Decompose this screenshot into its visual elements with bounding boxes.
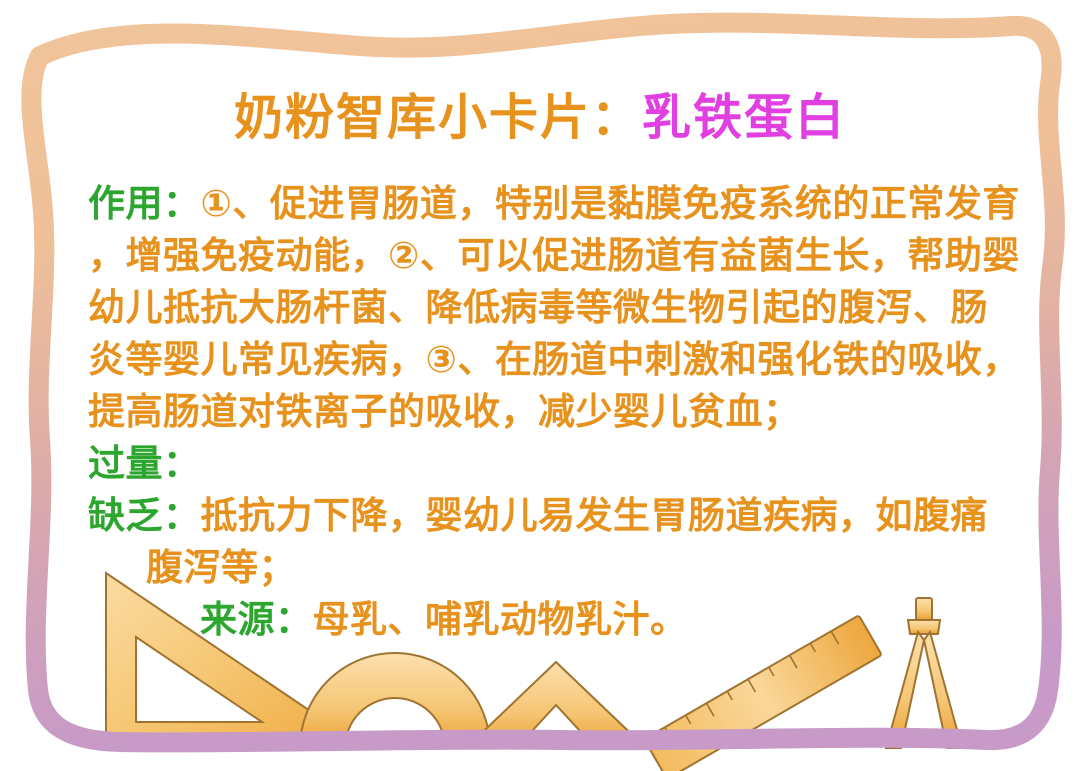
text-layer: 奶粉智库小卡片：乳铁蛋白 作用：①、促进胃肠道，特别是黏膜免疫系统的正常发育 ，…	[0, 0, 1080, 771]
body-line-5: 提高肠道对铁离子的吸收，减少婴儿贫血；	[88, 386, 1038, 438]
body-line-9-text: 母乳、哺乳动物乳汁。	[313, 598, 688, 641]
body-line-3-text: 幼儿抵抗大肠杆菌、降低病毒等微生物引起的腹泻、肠	[88, 286, 988, 329]
body-line-1: 作用：①、促进胃肠道，特别是黏膜免疫系统的正常发育	[88, 178, 1038, 230]
body-line-6: 过量：	[88, 438, 1038, 490]
body-line-2-text: ，增强免疫动能，②、可以促进肠道有益菌生长，帮助婴	[88, 234, 1020, 277]
body-line-8-text: 腹泻等；	[146, 546, 296, 589]
body-line-9-label: 来源：	[200, 598, 313, 641]
body-line-2: ，增强免疫动能，②、可以促进肠道有益菌生长，帮助婴	[88, 230, 1038, 282]
body-line-3: 幼儿抵抗大肠杆菌、降低病毒等微生物引起的腹泻、肠	[88, 282, 1038, 334]
body-line-7: 缺乏：抵抗力下降，婴幼儿易发生胃肠道疾病，如腹痛	[88, 490, 1038, 542]
body-line-6-label: 过量：	[88, 442, 201, 485]
body-line-1-label: 作用：	[88, 182, 201, 225]
body-content: 作用：①、促进胃肠道，特别是黏膜免疫系统的正常发育 ，增强免疫动能，②、可以促进…	[88, 178, 1038, 646]
page-title: 奶粉智库小卡片：乳铁蛋白	[0, 78, 1080, 149]
body-line-5-text: 提高肠道对铁离子的吸收，减少婴儿贫血；	[88, 390, 801, 433]
body-line-9: 来源：母乳、哺乳动物乳汁。	[88, 594, 1038, 646]
body-line-4: 炎等婴儿常见疾病，③、在肠道中刺激和强化铁的吸收，	[88, 334, 1038, 386]
body-line-1-text: ①、促进胃肠道，特别是黏膜免疫系统的正常发育	[201, 182, 1020, 225]
title-main: 奶粉智库小卡片：	[234, 89, 642, 146]
title-accent: 乳铁蛋白	[642, 89, 846, 146]
body-line-7-label: 缺乏：	[88, 494, 201, 537]
info-card: 奶粉智库小卡片：乳铁蛋白 作用：①、促进胃肠道，特别是黏膜免疫系统的正常发育 ，…	[0, 0, 1080, 771]
body-line-7-text: 抵抗力下降，婴幼儿易发生胃肠道疾病，如腹痛	[201, 494, 989, 537]
body-line-4-text: 炎等婴儿常见疾病，③、在肠道中刺激和强化铁的吸收，	[88, 338, 1020, 381]
body-line-8: 腹泻等；	[88, 542, 1038, 594]
